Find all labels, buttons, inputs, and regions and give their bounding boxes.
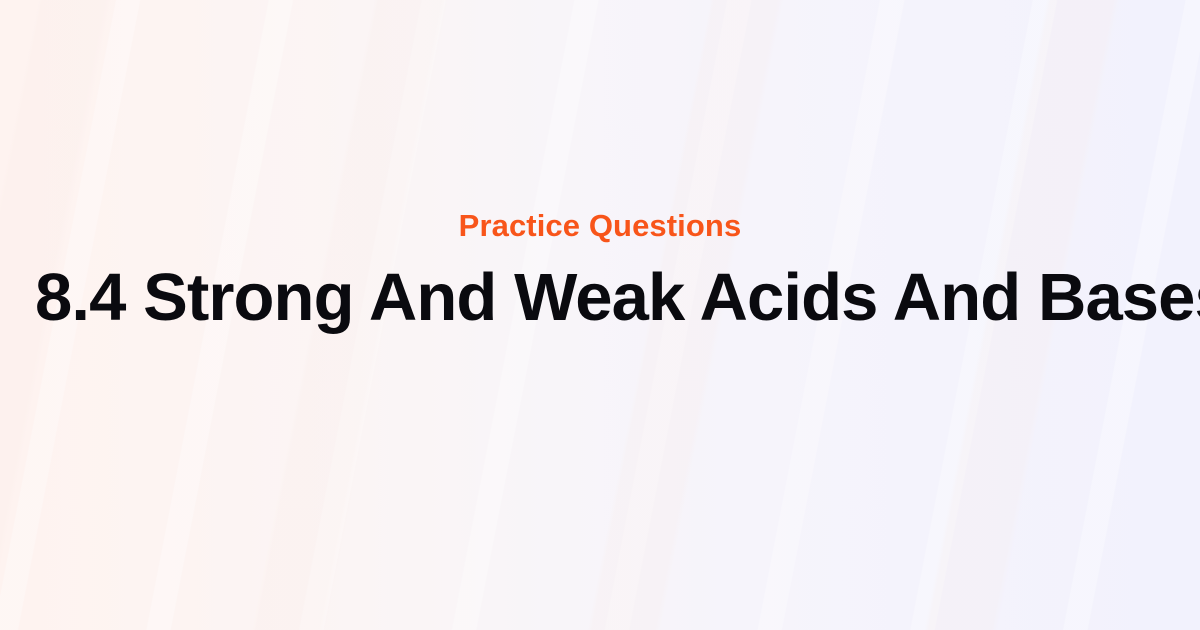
page-title: 8.4 Strong And Weak Acids And Bases [35,262,1165,334]
eyebrow-label: Practice Questions [459,209,742,243]
og-banner-card: Practice Questions 8.4 Strong And Weak A… [0,0,1200,630]
card-content: Practice Questions 8.4 Strong And Weak A… [0,0,1200,630]
